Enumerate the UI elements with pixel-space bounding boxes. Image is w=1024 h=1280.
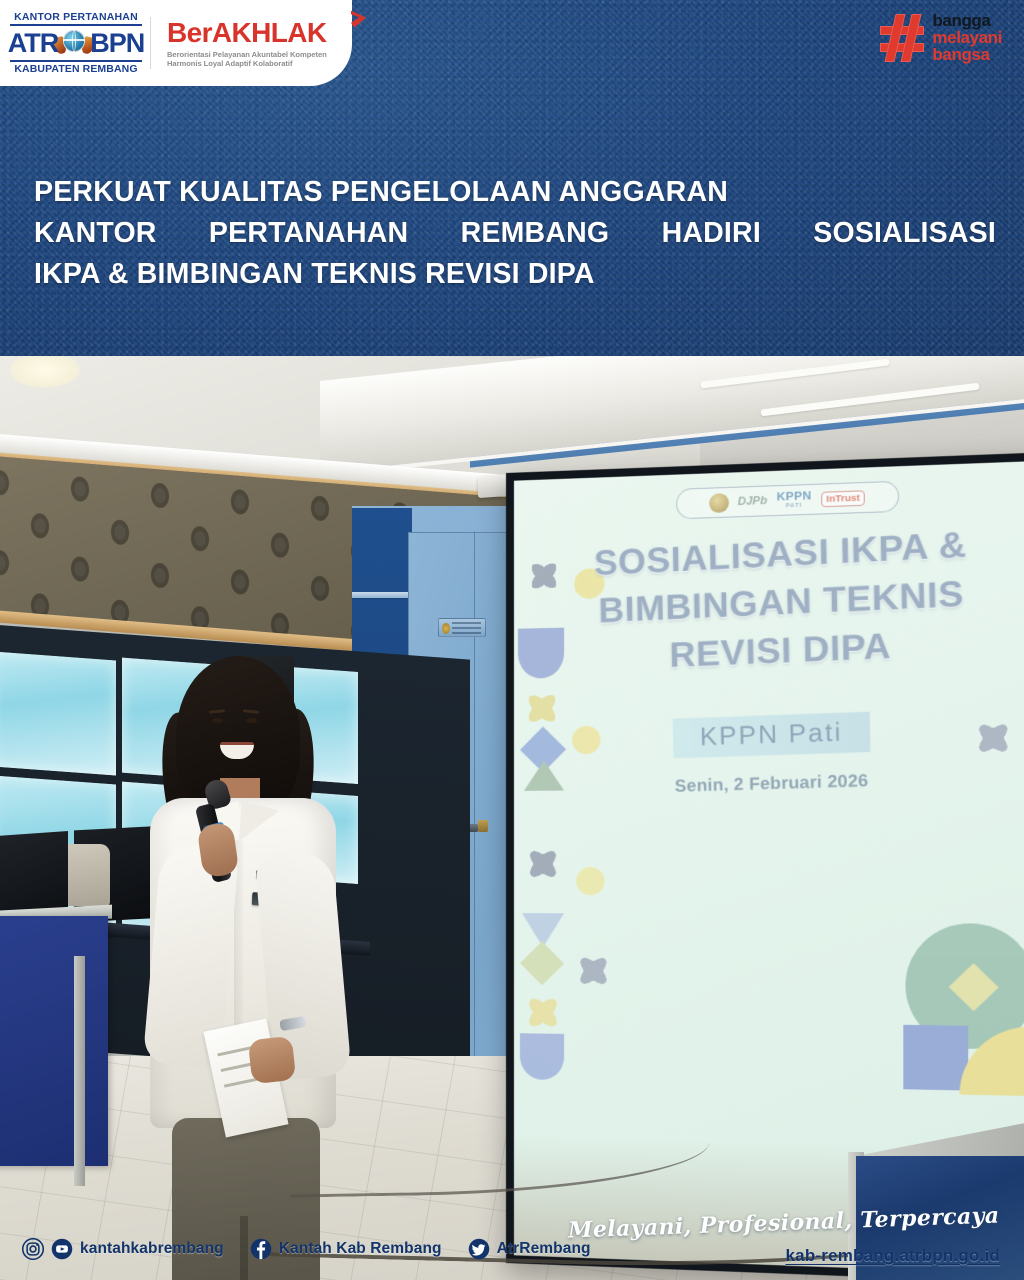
- facebook-icon[interactable]: [250, 1238, 272, 1260]
- twitter-icon[interactable]: [468, 1238, 490, 1260]
- bangga-line1: bangga: [932, 12, 1002, 29]
- bpn-globe-emblem: [59, 28, 89, 58]
- social-media-bar: kantahkabrembang Kantah Kab Rembang AtrR…: [22, 1238, 607, 1260]
- headline-line-1: PERKUAT KUALITAS PENGELOLAAN ANGGARAN: [34, 172, 994, 213]
- intrust-badge: InTrust: [821, 490, 865, 507]
- slide-subtitle: KPPN Pati: [673, 712, 871, 759]
- website-url[interactable]: kab-rembang.atrbpn.go.id: [786, 1246, 1000, 1266]
- atrbpn-word-left: ATR: [8, 28, 59, 58]
- door-sign-plate: [438, 618, 486, 637]
- operator-desk: [0, 916, 108, 1166]
- hand-holding-paper: [248, 1036, 296, 1084]
- atrbpn-logo: KANTOR PERTANAHAN ATR BPN KABUPATEN REMB…: [8, 11, 144, 76]
- door-lock: [478, 820, 488, 832]
- window-pane: [0, 651, 116, 775]
- slide-title: SOSIALISASI IKPA & BIMBINGAN TEKNIS REVI…: [549, 518, 1018, 684]
- kemenkeu-emblem-icon: [709, 493, 729, 513]
- berakhlak-tagline-line1: Berorientasi Pelayanan Akuntabel Kompete…: [167, 50, 352, 60]
- logo-plate: KANTOR PERTANAHAN ATR BPN KABUPATEN REMB…: [0, 0, 352, 86]
- kppn-sub-label: PATI: [777, 502, 812, 509]
- desk-leg: [74, 956, 85, 1186]
- logo-divider: [150, 17, 151, 69]
- event-photo: DJPb KPPN PATI InTrust SOSIALISASI IKPA …: [0, 356, 1024, 1280]
- instagram-icon[interactable]: [22, 1238, 44, 1260]
- hashtag-icon: [880, 14, 924, 62]
- eye-right: [246, 718, 257, 723]
- atrbpn-top-line: KANTOR PERTANAHAN: [8, 11, 144, 24]
- laptop-screen: [0, 831, 68, 915]
- atrbpn-wordmark: ATR BPN: [8, 26, 144, 60]
- kppn-logo: KPPN PATI: [777, 490, 812, 510]
- headline-line-2: KANTOR PERTANAHAN REMBANG HADIRI SOSIALI…: [34, 213, 996, 254]
- social-handle-facebook[interactable]: Kantah Kab Rembang: [279, 1240, 442, 1258]
- headline-line-3: IKPA & BIMBINGAN TEKNIS REVISI DIPA: [34, 254, 994, 295]
- youtube-icon[interactable]: [51, 1238, 73, 1260]
- berakhlak-arrow-icon: [351, 11, 366, 28]
- berakhlak-tagline: Berorientasi Pelayanan Akuntabel Kompete…: [167, 50, 352, 69]
- berakhlak-tagline-line2: Harmonis Loyal Adaptif Kolaboratif: [167, 59, 352, 69]
- header-banner: KANTOR PERTANAHAN ATR BPN KABUPATEN REMB…: [0, 0, 1024, 356]
- berakhlak-logo: BerAKHLAK Berorientasi Pelayanan Akuntab…: [157, 18, 352, 69]
- berakhlak-word: BerAKHLAK: [167, 18, 327, 48]
- bangga-melayani-bangsa-logo: bangga melayani bangsa: [880, 12, 1002, 63]
- slide-pattern-right: [884, 913, 1024, 1124]
- social-group-instagram-youtube[interactable]: kantahkabrembang: [22, 1238, 224, 1260]
- atrbpn-word-right: BPN: [90, 28, 144, 58]
- eye-left: [212, 718, 223, 723]
- bangga-line3: bangsa: [932, 46, 1002, 63]
- headline: PERKUAT KUALITAS PENGELOLAAN ANGGARAN KA…: [34, 172, 994, 295]
- djpb-logo: DJPb: [738, 495, 767, 508]
- poster-root: KANTOR PERTANAHAN ATR BPN KABUPATEN REMB…: [0, 0, 1024, 1280]
- bangga-line2: melayani: [932, 29, 1002, 46]
- social-group-facebook[interactable]: Kantah Kab Rembang: [250, 1238, 442, 1260]
- social-handle-instagram[interactable]: kantahkabrembang: [80, 1240, 224, 1258]
- atrbpn-bottom-line: KABUPATEN REMBANG: [8, 62, 144, 76]
- slide-logo-strip: DJPb KPPN PATI InTrust: [676, 481, 899, 520]
- slide-subtitle-wrap: KPPN Pati: [514, 711, 1024, 758]
